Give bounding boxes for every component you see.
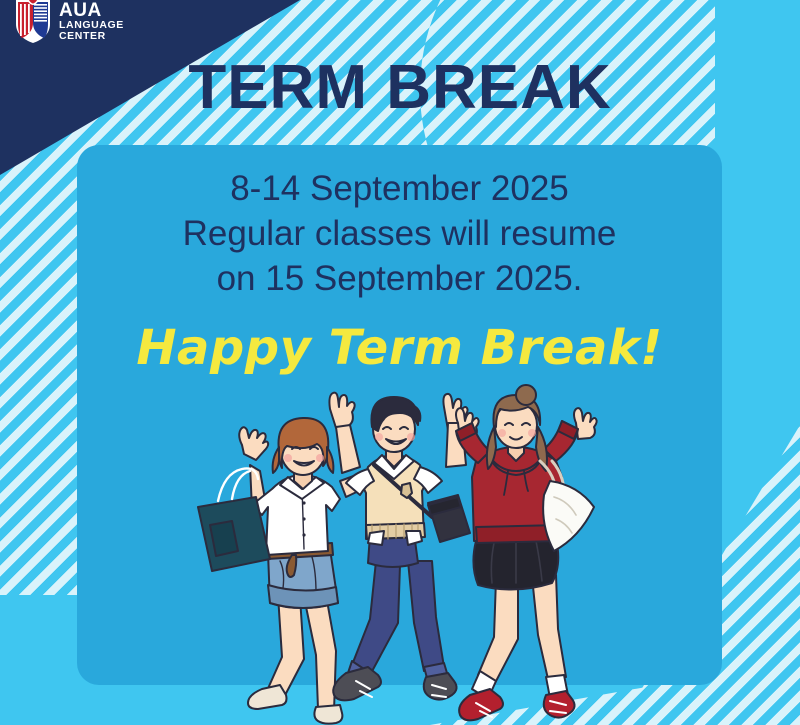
aua-shield-icon xyxy=(14,0,52,44)
logo-line-center: CENTER xyxy=(59,31,124,42)
page-title: TERM BREAK xyxy=(0,52,800,123)
announcement-line-3: on 15 September 2025. xyxy=(77,257,722,302)
term-break-poster: AUA LANGUAGE CENTER TERM BREAK 8-14 Sept… xyxy=(0,0,800,725)
logo-name: AUA xyxy=(59,1,124,20)
announcement-line-2: Regular classes will resume xyxy=(77,212,722,257)
aua-logo: AUA LANGUAGE CENTER xyxy=(14,0,124,44)
announcement-text: 8-14 September 2025 Regular classes will… xyxy=(77,167,722,301)
announcement-line-1: 8-14 September 2025 xyxy=(77,167,722,212)
three-students-jumping-illustration: .ol{stroke:#2b2b3d;stroke-width:2;stroke… xyxy=(180,385,630,725)
greeting-text: Happy Term Break! xyxy=(77,320,722,376)
